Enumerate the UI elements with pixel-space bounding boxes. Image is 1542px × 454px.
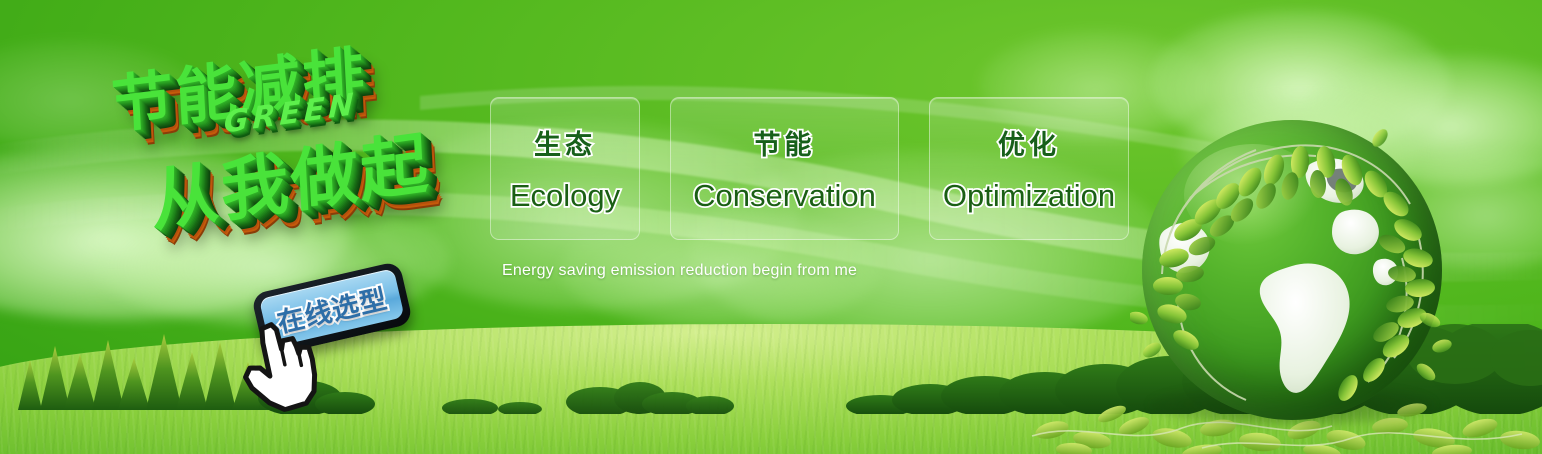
feature-card-ecology[interactable]: 生态 Ecology [490,97,640,240]
feature-card-list: 生态 Ecology 节能 Conservation 优化 Optimizati… [490,97,1129,240]
eco-promo-banner: 节能减排 GREEN 从我做起 生态 Ecology 节能 Conservati… [0,0,1542,454]
banner-tagline: Energy saving emission reduction begin f… [502,262,857,280]
pointer-hand-cursor-icon [238,320,320,412]
feature-card-title-cn: 优化 [998,123,1060,162]
headline-3d-text: 节能减排 GREEN 从我做起 [89,14,502,293]
feature-card-title-en: Conservation [693,178,876,214]
feature-card-title-en: Optimization [943,178,1115,214]
feature-card-title-cn: 节能 [754,123,816,162]
feature-card-optimization[interactable]: 优化 Optimization [929,97,1129,240]
feature-card-title-cn: 生态 [534,123,596,162]
leaf-covered-globe-icon [1142,120,1442,420]
globe-vine-leaves [1130,108,1454,432]
feature-card-conservation[interactable]: 节能 Conservation [670,97,899,240]
feature-card-title-en: Ecology [510,178,620,214]
